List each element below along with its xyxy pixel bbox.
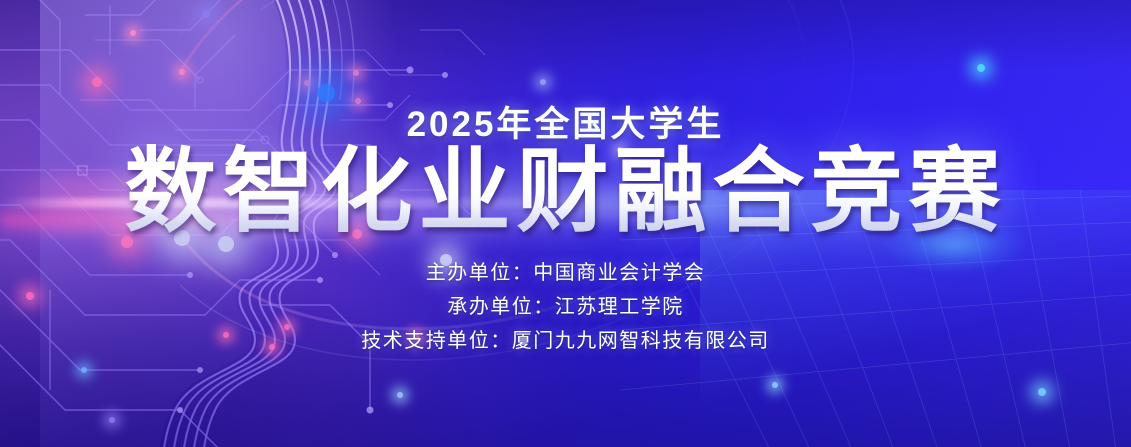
organizer-line-host: 主办单位：中国商业会计学会 [0, 256, 1131, 290]
organizer-list: 主办单位：中国商业会计学会 承办单位：江苏理工学院 技术支持单位：厦门九九网智科… [0, 256, 1131, 358]
organizer-line-tech-support: 技术支持单位：厦门九九网智科技有限公司 [0, 324, 1131, 358]
competition-banner: 2025年全国大学生 数智化业财融合竞赛 主办单位：中国商业会计学会 承办单位：… [0, 0, 1131, 447]
banner-main-title: 数智化业财融合竞赛 [0, 142, 1131, 241]
banner-content: 2025年全国大学生 数智化业财融合竞赛 主办单位：中国商业会计学会 承办单位：… [0, 0, 1131, 447]
organizer-line-undertaker: 承办单位：江苏理工学院 [0, 290, 1131, 324]
